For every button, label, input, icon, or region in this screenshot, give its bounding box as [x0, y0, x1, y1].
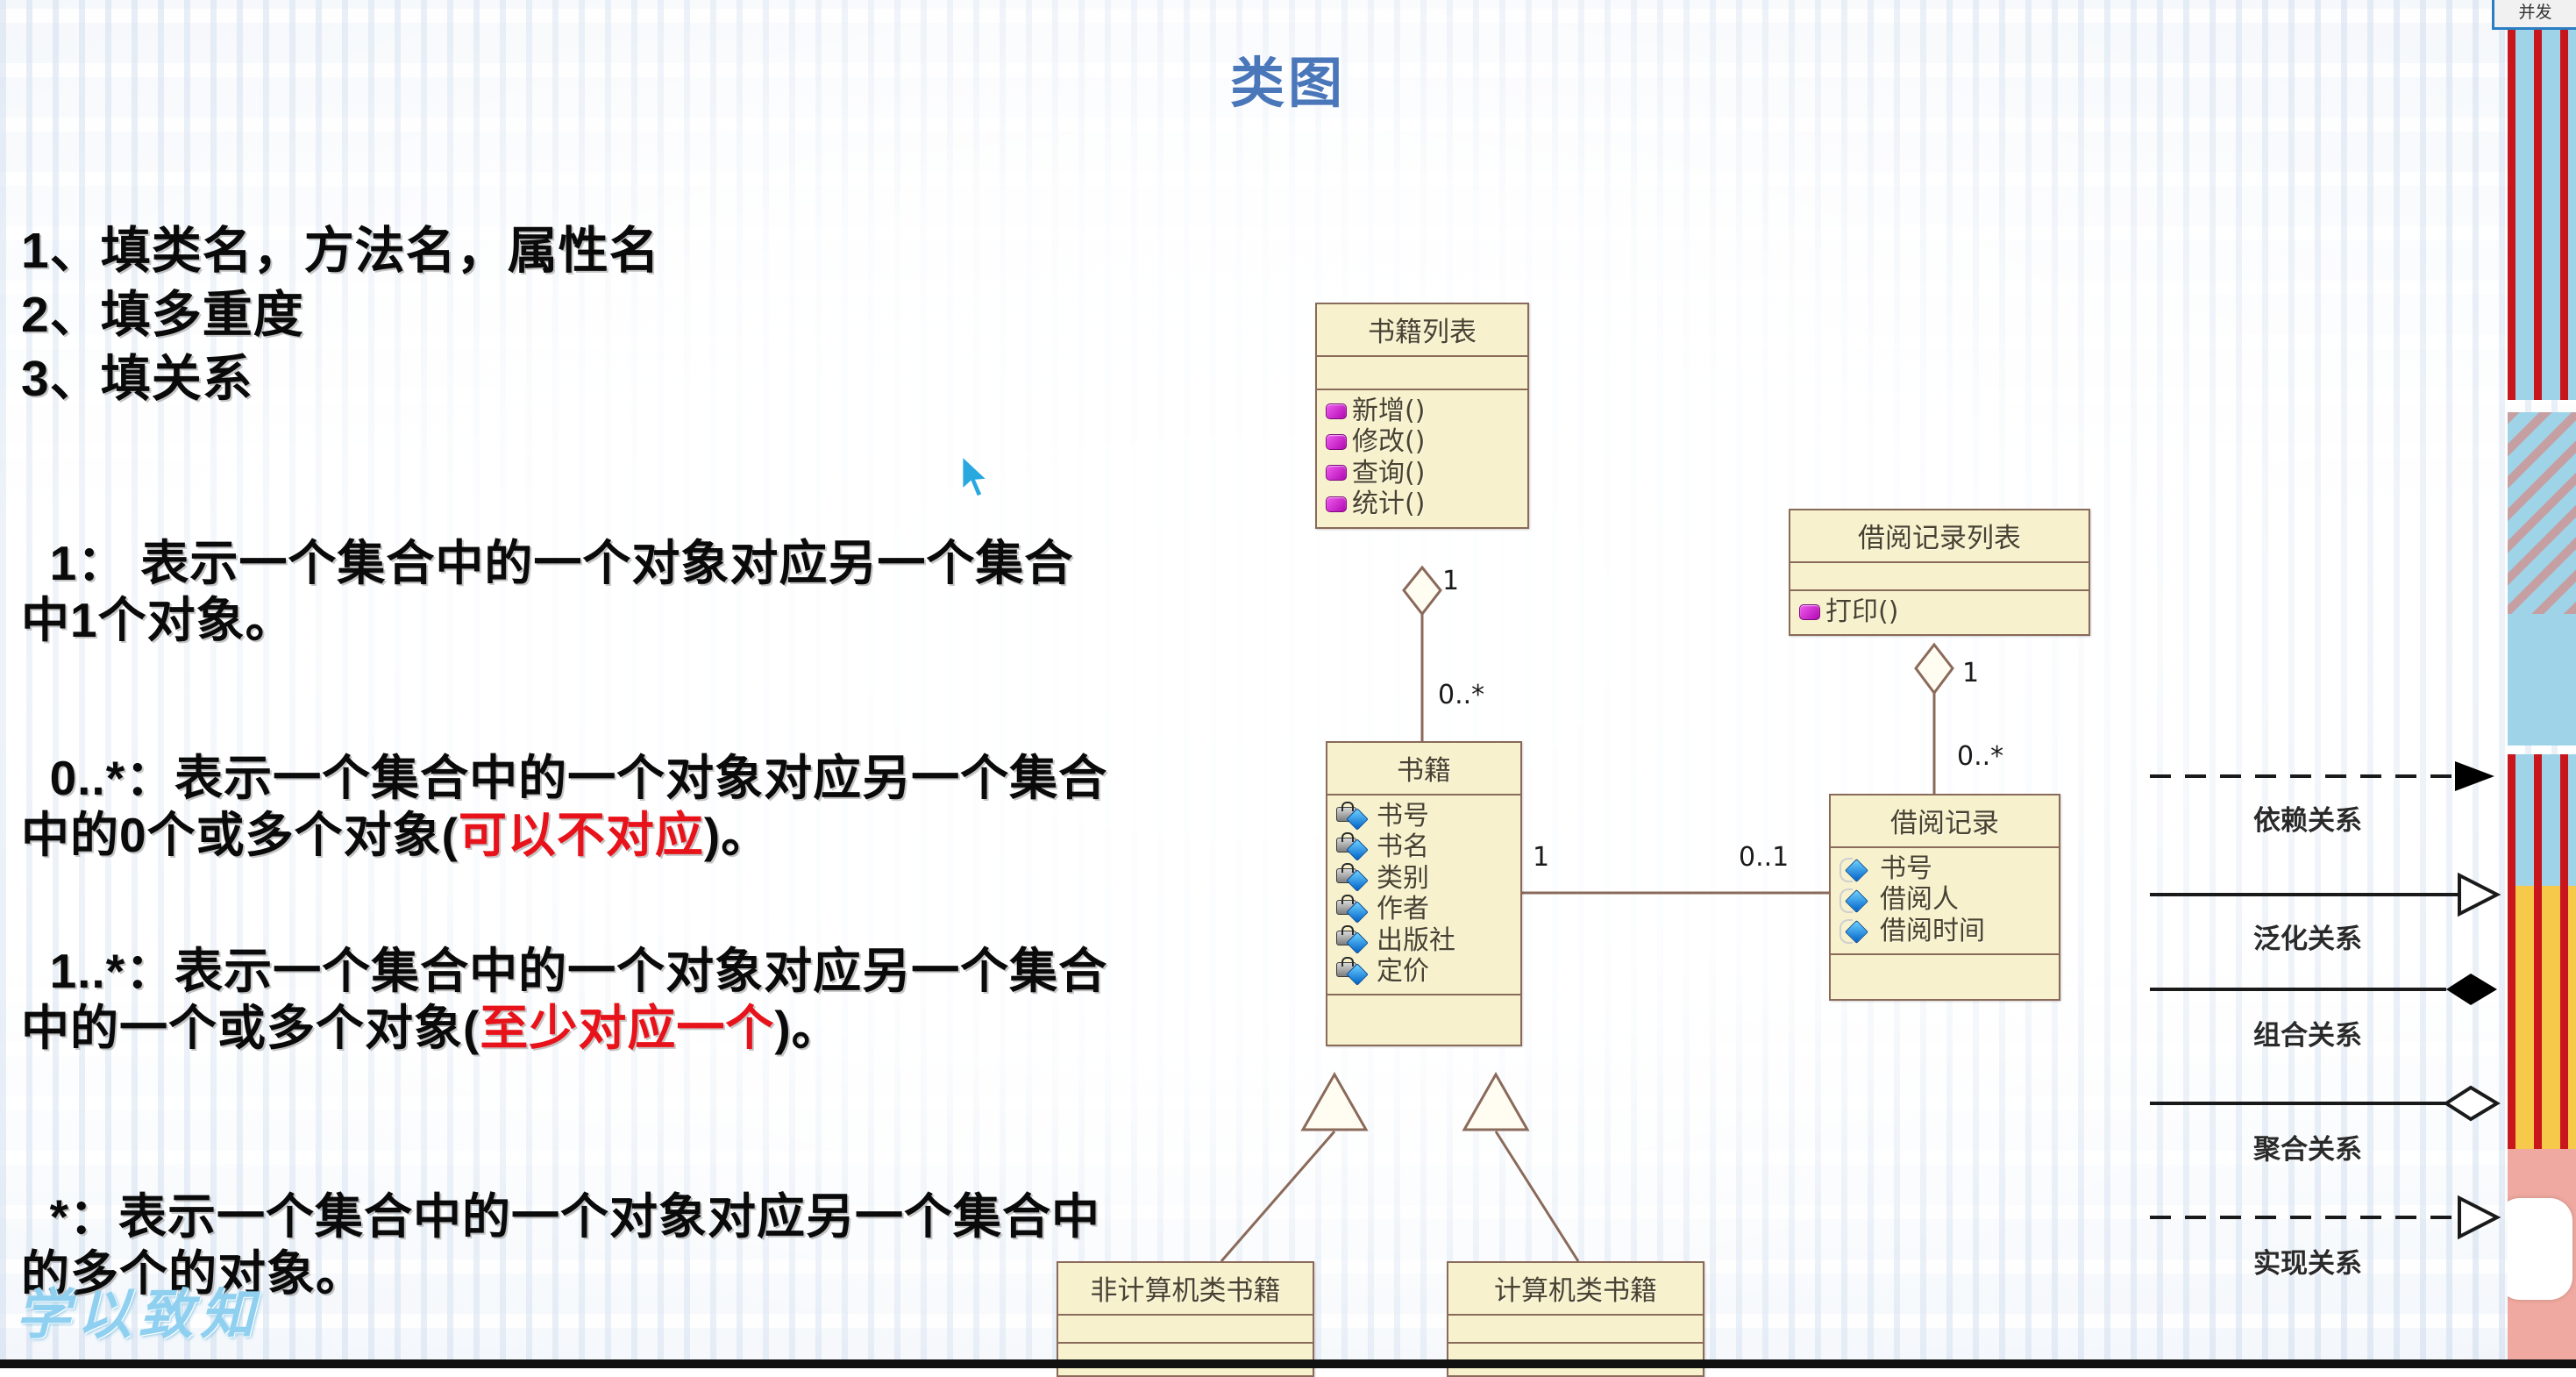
panel-rounded-button[interactable]	[2508, 1198, 2572, 1300]
bottom-letterbox-bar	[0, 1359, 2576, 1368]
composition-diamond-filled	[2446, 974, 2497, 1005]
mouse-cursor-icon	[960, 453, 995, 503]
legend-label-aggregation: 聚合关系	[2253, 1127, 2362, 1167]
legend-label-composition: 组合关系	[2253, 1013, 2362, 1052]
panel-band-yellow-stripes	[2508, 886, 2576, 1149]
browser-tab-chip[interactable]: 并发	[2492, 0, 2576, 30]
legend-label-generalization: 泛化关系	[2253, 917, 2362, 956]
realization-arrow-hollow	[2459, 1198, 2497, 1237]
generalization-arrow-hollow	[2459, 875, 2497, 914]
legend-label-realization: 实现关系	[2253, 1241, 2362, 1281]
legend-glyphs	[0, 0, 2576, 1368]
panel-band-red-stripes	[2508, 14, 2576, 400]
legend-label-dependency: 依赖关系	[2253, 798, 2362, 838]
dependency-arrow-filled	[2455, 761, 2494, 791]
aggregation-diamond-hollow	[2446, 1088, 2497, 1119]
panel-band-hatch	[2508, 412, 2576, 614]
right-side-panel[interactable]	[2508, 0, 2576, 1368]
